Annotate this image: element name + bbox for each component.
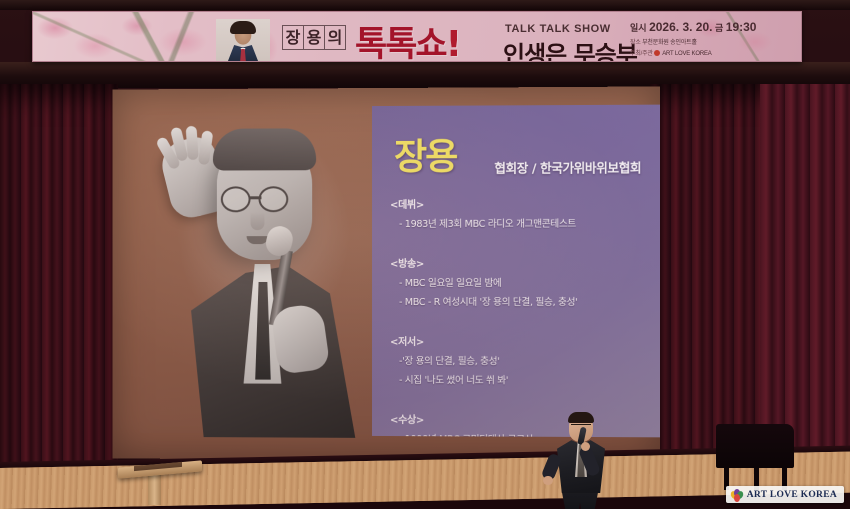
slide-item: - MBC - R 여성시대 '장 용의 단결, 필승, 충성' <box>390 294 648 308</box>
portrait-mouth <box>247 236 269 244</box>
portrait-necktie <box>255 282 272 380</box>
banner-main-title-text: 톡톡쇼 <box>355 25 446 62</box>
portrait-raised-hand <box>157 133 229 222</box>
speaker-right-hand <box>581 442 590 451</box>
slide-speaker-name: 장용 <box>394 128 456 180</box>
presentation-slide: 장용 협회장 / 한국가위바위보협회 <데뷔> - 1983년 제3회 MBC … <box>372 105 660 438</box>
speaker-on-stage <box>543 414 617 509</box>
banner-day-value: 금 <box>715 23 723 33</box>
portrait-holding-hand <box>270 303 330 375</box>
banner-date-value: 2026. 3. 20. <box>649 20 712 34</box>
slide-item: - 1983년 제3회 MBC 라디오 개그맨콘테스트 <box>390 216 648 230</box>
photo-scene: 장 용 의 톡톡쇼! TALK TALK SHOW 인생은 무승부 일시 202… <box>0 0 850 509</box>
slide-section-heading-debut: <데뷔> <box>390 195 648 211</box>
banner-main-title: 톡톡쇼! <box>355 16 460 62</box>
banner-place-label: 장소 <box>630 40 641 46</box>
ceiling-beam <box>0 0 850 10</box>
boxed-char-2: 용 <box>303 25 325 50</box>
banner-host-portrait <box>216 19 270 62</box>
slide-section-heading-books: <저서> <box>390 333 648 349</box>
portrait-nose <box>251 212 265 230</box>
banner-date-row: 일시 2026. 3. 20. 금 19:30 <box>630 20 760 34</box>
projection-screen: 장용 협회장 / 한국가위바위보협회 <데뷔> - 1983년 제3회 MBC … <box>112 86 660 461</box>
banner-boxed-title: 장 용 의 <box>283 25 346 50</box>
banner-exclamation: ! <box>446 24 460 62</box>
projected-portrait-photo <box>140 114 388 434</box>
slide-item: - MBC 일요일 일요일 밤에 <box>390 275 648 289</box>
covered-grand-piano <box>716 424 794 468</box>
banner-time-value: 19:30 <box>726 20 757 34</box>
portrait-microphone-handle <box>269 250 293 327</box>
watermark-text: ART LOVE KOREA <box>747 490 837 500</box>
banner-subtitle: 인생은 무승부 <box>503 35 637 62</box>
portrait-eyeglass-right <box>259 186 289 212</box>
portrait-jacket <box>158 266 368 438</box>
banner-place-row: 장소 부천문화원 송인아트홀 <box>630 37 760 46</box>
portrait-microphone-head <box>263 223 295 258</box>
portrait-dress-shirt <box>235 264 291 384</box>
slide-body: <데뷔> - 1983년 제3회 MBC 라디오 개그맨콘테스트 <방송> - … <box>390 183 648 437</box>
banner-english-title: TALK TALK SHOW <box>505 23 611 35</box>
boxed-char-3: 의 <box>324 25 346 50</box>
banner-place-value: 부천문화원 송인아트홀 <box>642 40 697 46</box>
portrait-face <box>217 136 312 260</box>
watermark: ART LOVE KOREA <box>726 486 844 503</box>
event-banner: 장 용 의 톡톡쇼! TALK TALK SHOW 인생은 무승부 일시 202… <box>32 11 802 62</box>
portrait-hair <box>213 128 316 170</box>
banner-organizer-row: 주최/주관 ART LOVE KOREA <box>630 48 760 57</box>
slide-speaker-role: 협회장 / 한국가위바위보협회 <box>494 157 641 177</box>
art-love-korea-flower-icon <box>731 489 743 501</box>
portrait-hair <box>230 21 256 34</box>
slide-item: - 시집 '나도 썼어 너도 쒸 봐' <box>390 372 648 387</box>
art-love-korea-logo-icon <box>654 50 660 56</box>
council-logo-icon <box>642 62 649 63</box>
portrait-eyeglass-bridge <box>250 196 262 199</box>
banner-organizer-label: 주최/주관 <box>630 51 653 57</box>
boxed-char-1: 장 <box>282 25 304 50</box>
speaker-left-hand <box>543 476 553 485</box>
banner-sponsor-row: 후원 부천시의회 <box>630 60 760 63</box>
banner-date-label: 일시 <box>630 23 647 33</box>
lectern-column <box>148 474 161 505</box>
speaker-hair <box>568 412 594 423</box>
banner-info-block: 일시 2026. 3. 20. 금 19:30 장소 부천문화원 송인아트홀 주… <box>630 20 760 62</box>
slide-section-heading-broadcast: <방송> <box>390 255 648 270</box>
stage-curtain-left <box>0 84 118 484</box>
slide-item: -'장 용의 단결, 필승, 충성' <box>390 353 648 368</box>
banner-organizer-value: ART LOVE KOREA <box>662 51 711 57</box>
portrait-eyeglass-left <box>221 186 251 212</box>
